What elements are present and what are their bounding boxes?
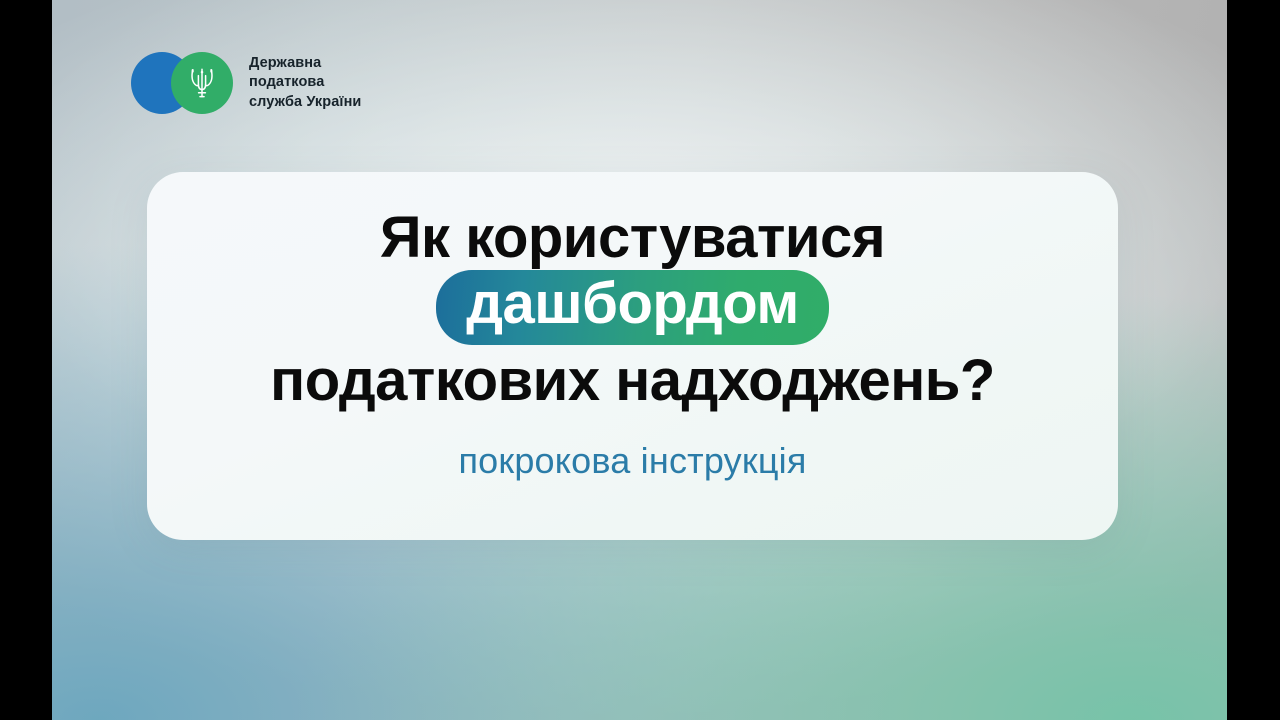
letterbox-bar-right bbox=[1227, 0, 1280, 720]
title-card: Як користуватися дашбордом податкових на… bbox=[147, 172, 1118, 540]
brand-name-line-1: Державна bbox=[249, 54, 361, 73]
slide-stage: Державна податкова служба України Як кор… bbox=[52, 0, 1227, 720]
highlight-pill-wrapper: дашбордом bbox=[436, 270, 829, 345]
brand-name-line-2: податкова bbox=[249, 73, 361, 92]
logo-green-circle-icon bbox=[171, 52, 233, 114]
logo-marks bbox=[131, 52, 233, 114]
subtitle: покрокова інструкція bbox=[458, 440, 806, 482]
video-frame: Державна податкова служба України Як кор… bbox=[0, 0, 1280, 720]
highlight-pill-dashboard: дашбордом bbox=[436, 270, 829, 345]
headline-line-3: податкових надходжень? bbox=[270, 351, 995, 411]
brand-logo: Державна податкова служба України bbox=[131, 52, 361, 114]
headline-line-1: Як користуватися bbox=[380, 208, 885, 268]
ukraine-trident-emblem-icon bbox=[189, 66, 215, 100]
brand-name: Державна податкова служба України bbox=[249, 54, 361, 112]
brand-name-line-3: служба України bbox=[249, 93, 361, 112]
letterbox-bar-left bbox=[0, 0, 52, 720]
